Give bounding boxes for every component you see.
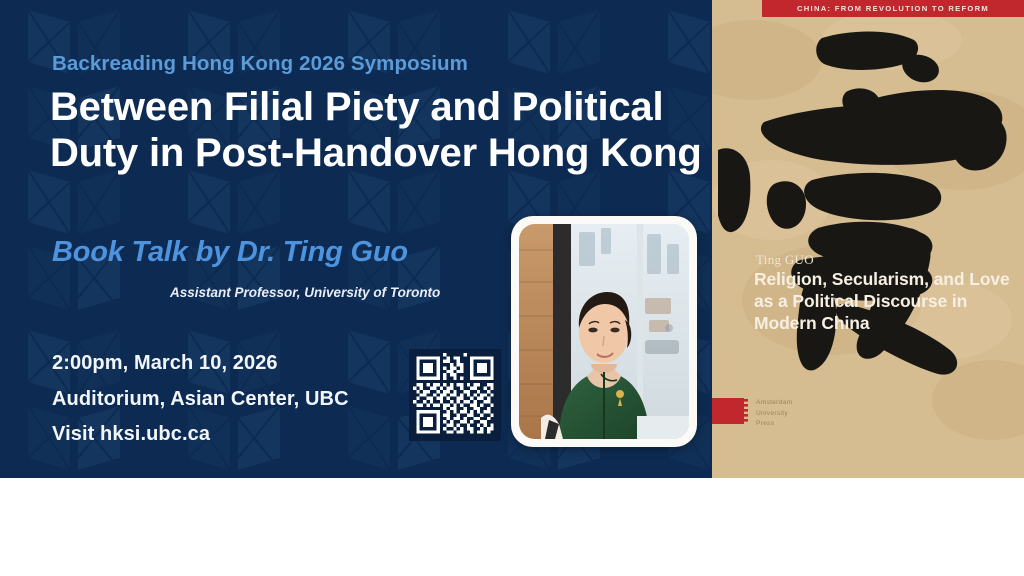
book-title: Religion, Secularism, and Love as a Poli… <box>754 268 1016 334</box>
symposium-eyebrow: Backreading Hong Kong 2026 Symposium <box>52 52 468 76</box>
event-details: 2:00pm, March 10, 2026 Auditorium, Asian… <box>52 346 349 453</box>
book-author: Ting GUO <box>756 252 814 268</box>
speaker-affiliation: Assistant Professor, University of Toron… <box>170 285 440 300</box>
event-website: Visit hksi.ubc.ca <box>52 417 349 453</box>
page-title: Between Filial Piety and Political Duty … <box>50 84 710 177</box>
speaker-photo-frame <box>511 216 697 447</box>
qr-code[interactable] <box>409 349 501 441</box>
event-venue: Auditorium, Asian Center, UBC <box>52 382 349 418</box>
event-time: 2:00pm, March 10, 2026 <box>52 346 349 382</box>
publisher-line-1: Amsterdam <box>756 398 792 409</box>
book-cover-panel: CHINA: FROM REVOLUTION TO REFORM Ting G <box>712 0 1024 478</box>
book-series-label: CHINA: FROM REVOLUTION TO REFORM <box>797 4 989 13</box>
event-poster: Backreading Hong Kong 2026 Symposium Bet… <box>0 0 1024 576</box>
publisher-line-2: University <box>756 409 792 420</box>
publisher-mark-dots <box>744 398 749 424</box>
calligraphy-love-character <box>718 14 1024 394</box>
sponsor-footer: UBC THE UNIVERSITY OF BRITISH COLUMBIA H… <box>0 478 1024 576</box>
publisher-name: Amsterdam University Press <box>756 398 792 430</box>
book-talk-subtitle: Book Talk by Dr. Ting Guo <box>52 236 408 269</box>
speaker-photo <box>519 224 689 439</box>
publisher-mark <box>712 398 744 424</box>
publisher-line-3: Press <box>756 419 792 430</box>
